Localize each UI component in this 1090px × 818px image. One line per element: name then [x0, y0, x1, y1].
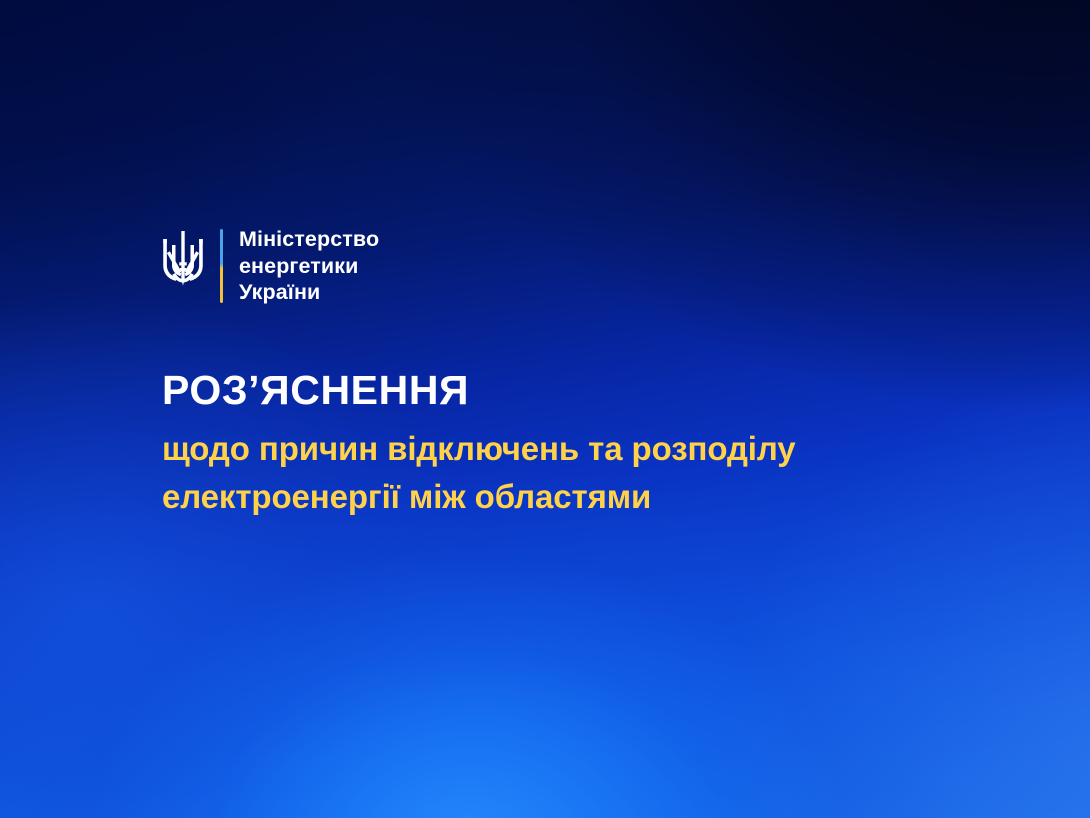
- slide-content: Міністерство енергетики України РОЗ’ЯСНЕ…: [0, 0, 1090, 818]
- page-subtitle: щодо причин відключень та розподілу елек…: [162, 425, 796, 521]
- ministry-logo-lockup: Міністерство енергетики України: [160, 226, 379, 306]
- headline-block: РОЗ’ЯСНЕННЯ щодо причин відключень та ро…: [162, 366, 796, 521]
- ministry-name-line-1: Міністерство: [239, 226, 379, 253]
- page-subtitle-line-2: електроенергії між областями: [162, 473, 796, 521]
- slide-canvas: Міністерство енергетики України РОЗ’ЯСНЕ…: [0, 0, 1090, 818]
- ministry-name-line-2: енергетики: [239, 253, 379, 280]
- page-subtitle-line-1: щодо причин відключень та розподілу: [162, 425, 796, 473]
- ukrainian-trident-icon: [160, 226, 206, 304]
- ministry-name: Міністерство енергетики України: [239, 226, 379, 306]
- ministry-name-line-3: України: [239, 279, 379, 306]
- logo-flag-divider: [220, 229, 223, 303]
- page-title: РОЗ’ЯСНЕННЯ: [162, 366, 796, 414]
